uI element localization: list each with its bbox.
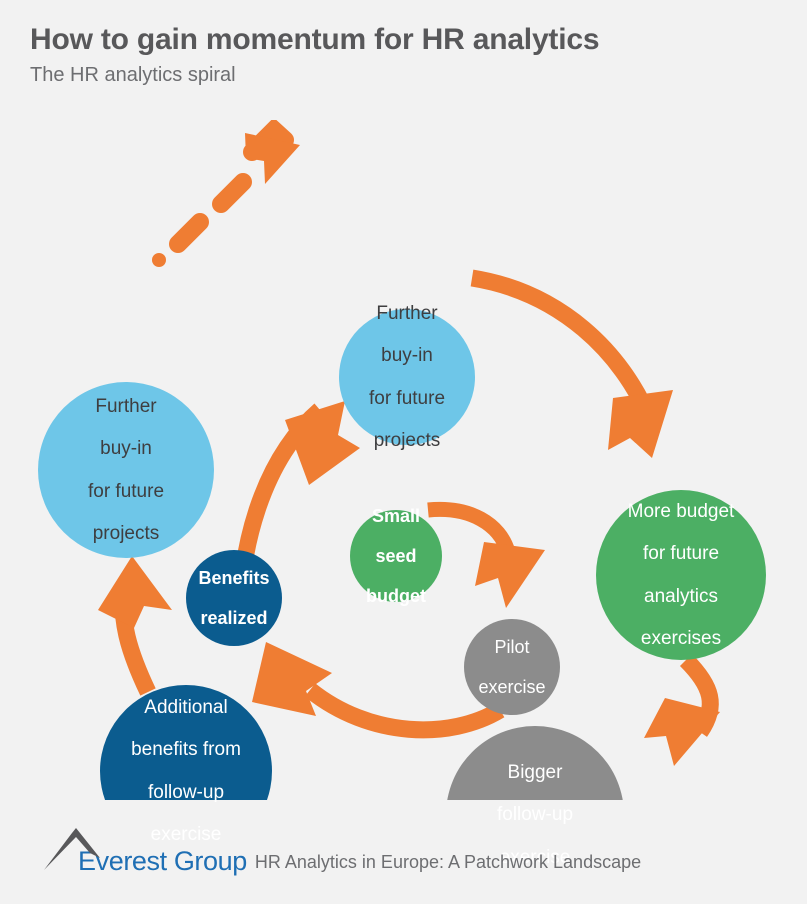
arrow-seed-to-pilot xyxy=(428,509,545,608)
node-bigger-follow-up[interactable] xyxy=(446,726,624,800)
node-further-buy-in-2[interactable] xyxy=(38,382,214,558)
diagram-page: How to gain momentum for HR analytics Th… xyxy=(0,0,807,895)
node-additional-benefits[interactable] xyxy=(100,685,272,800)
arrow-buyin2-continue-dashed xyxy=(152,128,308,267)
footer-caption: HR Analytics in Europe: A Patchwork Land… xyxy=(247,850,641,875)
node-benefits-realized[interactable] xyxy=(186,550,282,646)
footer: Everest Group HR Analytics in Europe: A … xyxy=(0,800,807,895)
arrow-budget-to-bigger xyxy=(644,660,720,766)
node-small-seed-budget[interactable] xyxy=(350,510,442,602)
page-title: How to gain momentum for HR analytics xyxy=(30,22,807,58)
spiral-diagram: Further buy-in for future projects Furth… xyxy=(0,120,807,800)
page-subtitle: The HR analytics spiral xyxy=(30,62,807,88)
diagram-svg xyxy=(0,120,807,800)
mountain-chevron-icon xyxy=(42,827,106,871)
arrow-additional-to-buyin2 xyxy=(98,556,172,692)
header: How to gain momentum for HR analytics Th… xyxy=(0,0,807,88)
everest-group-logo: Everest Group xyxy=(48,847,247,875)
node-pilot-exercise[interactable] xyxy=(464,619,560,715)
arrow-pilot-to-benefits xyxy=(252,642,500,730)
node-further-buy-in-1[interactable] xyxy=(339,309,475,445)
node-more-budget[interactable] xyxy=(596,490,766,660)
arrow-buyin1-to-budget xyxy=(472,278,673,458)
